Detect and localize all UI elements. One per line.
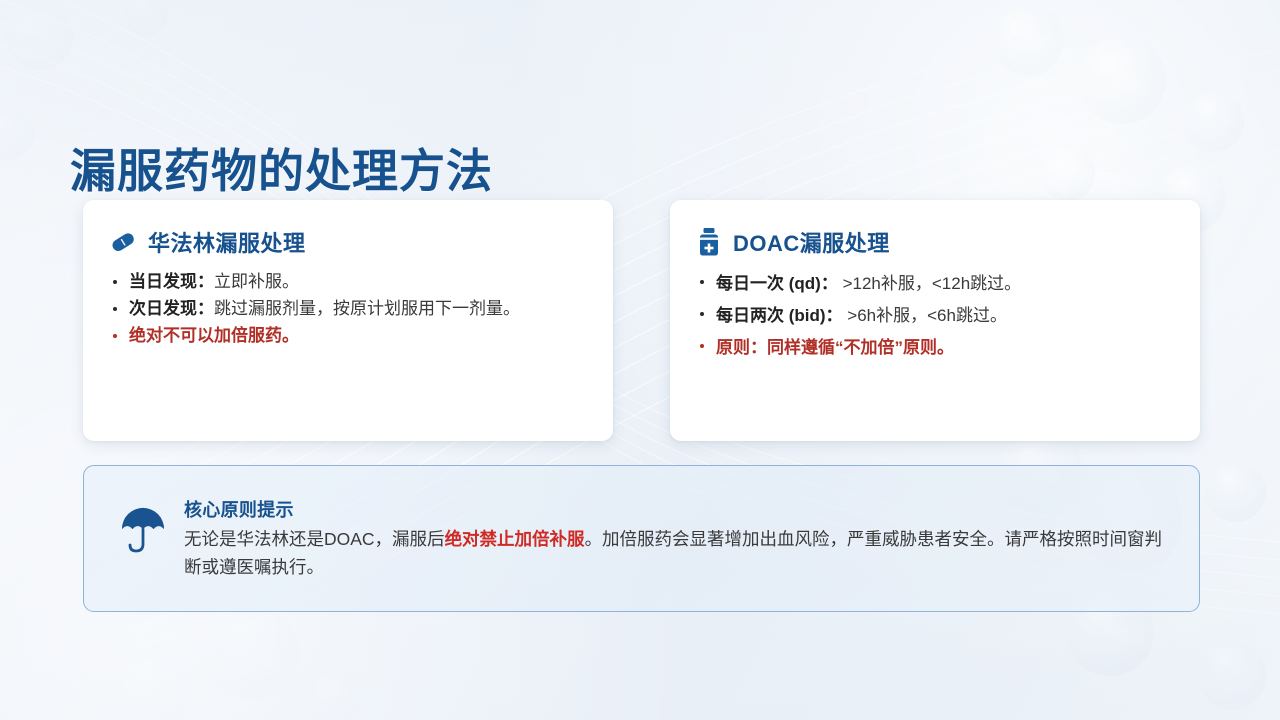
list-item: 次日发现：跳过漏服剂量，按原计划服用下一剂量。 — [109, 295, 587, 322]
core-principle-callout: 核心原则提示 无论是华法林还是DOAC，漏服后绝对禁止加倍补服。加倍服药会显著增… — [83, 465, 1200, 612]
bullet-label: 当日发现： — [129, 272, 214, 291]
callout-title: 核心原则提示 — [184, 496, 1173, 522]
callout-text-block: 核心原则提示 无论是华法林还是DOAC，漏服后绝对禁止加倍补服。加倍服药会显著增… — [184, 488, 1173, 591]
card-warfarin: 华法林漏服处理 当日发现：立即补服。 次日发现：跳过漏服剂量，按原计划服用下一剂… — [83, 200, 613, 441]
list-item-warning: 原则：同样遵循“不加倍”原则。 — [696, 332, 1174, 363]
slide-root: 漏服药物的处理方法 华法林漏服处理 当日发现：立即补服。 次日发现：跳过漏服剂量… — [0, 0, 1280, 720]
bullet-label: 每日一次 (qd)： — [716, 274, 838, 293]
list-item: 每日两次 (bid)： >6h补服，<6h跳过。 — [696, 300, 1174, 331]
list-item: 当日发现：立即补服。 — [109, 268, 587, 295]
card-warfarin-header: 华法林漏服处理 — [109, 226, 587, 258]
list-item-warning: 绝对不可以加倍服药。 — [109, 322, 587, 349]
bullet-label: 每日两次 (bid)： — [716, 306, 843, 325]
list-item: 每日一次 (qd)： >12h补服，<12h跳过。 — [696, 268, 1174, 299]
page-title: 漏服药物的处理方法 — [70, 135, 493, 201]
bullet-text: 原则：同样遵循“不加倍”原则。 — [716, 338, 954, 357]
card-doac: DOAC漏服处理 每日一次 (qd)： >12h补服，<12h跳过。 每日两次 … — [670, 200, 1200, 441]
card-doac-header: DOAC漏服处理 — [696, 226, 1174, 258]
bullet-text: 绝对不可以加倍服药。 — [129, 326, 299, 345]
bullet-text: 立即补服。 — [214, 272, 299, 291]
card-doac-title: DOAC漏服处理 — [733, 226, 890, 258]
callout-body-highlight: 绝对禁止加倍补服 — [445, 529, 585, 549]
card-doac-list: 每日一次 (qd)： >12h补服，<12h跳过。 每日两次 (bid)： >6… — [696, 268, 1174, 363]
bullet-text: >12h补服，<12h跳过。 — [843, 274, 1022, 293]
umbrella-icon — [108, 488, 166, 591]
medicine-bottle-icon — [696, 227, 722, 257]
callout-body: 无论是华法林还是DOAC，漏服后绝对禁止加倍补服。加倍服药会显著增加出血风险，严… — [184, 525, 1173, 581]
card-warfarin-title: 华法林漏服处理 — [148, 226, 306, 258]
callout-body-part1: 无论是华法林还是DOAC，漏服后 — [184, 529, 445, 549]
bullet-label: 次日发现： — [129, 299, 214, 318]
bullet-text: 跳过漏服剂量，按原计划服用下一剂量。 — [214, 299, 520, 318]
bullet-text: >6h补服，<6h跳过。 — [847, 306, 1007, 325]
pill-capsule-icon — [109, 228, 137, 256]
card-warfarin-list: 当日发现：立即补服。 次日发现：跳过漏服剂量，按原计划服用下一剂量。 绝对不可以… — [109, 268, 587, 349]
